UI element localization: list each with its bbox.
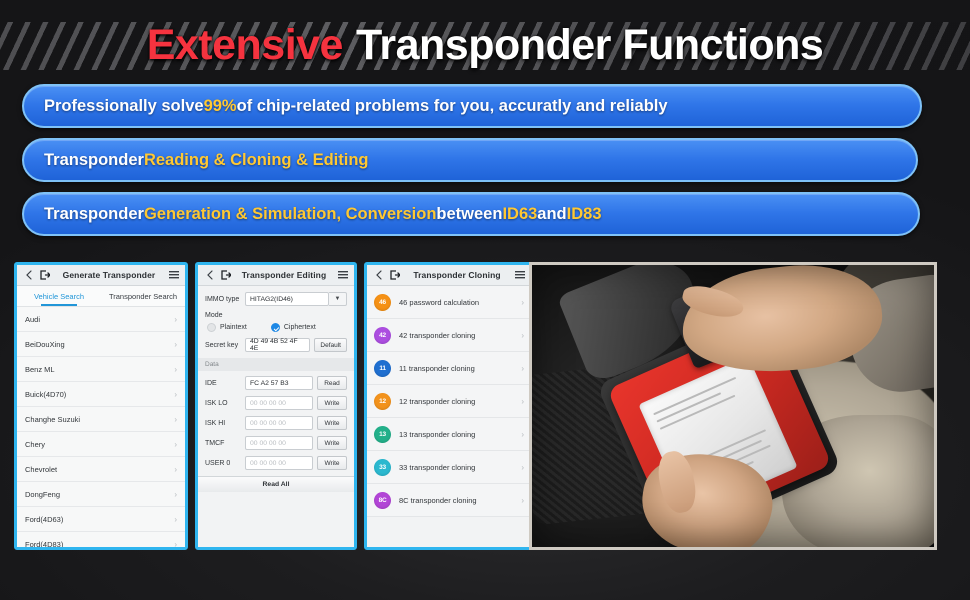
banner-2-segment-0: Transponder [44,151,144,170]
cloning-item-label: 13 transponder cloning [399,430,475,439]
list-item[interactable]: Buick(4D70)› [17,382,185,407]
panel-transponder-editing: Transponder Editing IMMO type HITAG2(ID4… [195,262,357,550]
chevron-right-icon: › [521,298,524,307]
panel-generate-transponder: Generate Transponder Vehicle Search Tran… [14,262,188,550]
exit-icon[interactable] [220,269,231,281]
page-title-highlight: Extensive [147,21,343,70]
banner-3-segment-0: Transponder [44,205,144,224]
chevron-right-icon: › [174,340,177,349]
chevron-right-icon: › [174,365,177,374]
list-item[interactable]: Audi› [17,307,185,332]
chevron-right-icon: › [174,540,177,548]
banner-1-segment-1: 99% [204,97,237,116]
data-row: TMCF 00 00 00 00 Write [205,436,347,450]
chip-badge-icon: 8C [374,492,391,509]
panel-generate-body: Vehicle Search Transponder Search Audi› … [17,286,185,547]
vehicle-search-tabs: Vehicle Search Transponder Search [17,286,185,307]
feature-banner-2: Transponder Reading & Cloning & Editing [22,138,918,182]
panel-generate-header: Generate Transponder [17,265,185,286]
write-button[interactable]: Write [317,456,347,470]
page-title-rest: Transponder Functions [356,21,823,70]
secret-key-label: Secret key [205,342,245,349]
radio-plaintext-label: Plaintext [220,324,247,331]
data-section-label: Data [198,358,354,371]
mode-radio-group: Plaintext Ciphertext [205,323,347,332]
vehicle-label: Benz ML [25,365,55,374]
cloning-function-list: 46 46 password calculation › 42 42 trans… [367,286,531,517]
isk-lo-input[interactable]: 00 00 00 00 [245,396,313,410]
menu-list-icon[interactable] [514,269,525,281]
chevron-right-icon: › [521,463,524,472]
vehicle-label: Ford(4D83) [25,540,63,548]
panel-editing-header: Transponder Editing [198,265,354,286]
chevron-right-icon: › [521,331,524,340]
list-item[interactable]: 46 46 password calculation › [367,286,531,319]
tab-transponder-search[interactable]: Transponder Search [101,286,185,306]
secret-key-row: Secret key 4D 49 4B 52 4F 4E Default [205,338,347,352]
banner-2-segment-1: Reading & Cloning & Editing [144,151,369,170]
editing-form: IMMO type HITAG2(ID46) ▼ Mode Plaintext … [198,286,354,492]
vehicle-label: Ford(4D63) [25,515,63,524]
cloning-item-label: 12 transponder cloning [399,397,475,406]
banner-3-segment-4: and [537,205,566,224]
list-item[interactable]: 42 42 transponder cloning › [367,319,531,352]
cloning-item-label: 42 transponder cloning [399,331,475,340]
chevron-right-icon: › [521,364,524,373]
panel-transponder-cloning: Transponder Cloning 46 46 password calcu… [364,262,534,550]
ide-input[interactable]: FC A2 57 B3 [245,376,313,390]
chip-badge-icon: 46 [374,294,391,311]
tab-vehicle-search[interactable]: Vehicle Search [17,286,101,306]
panel-editing-body: IMMO type HITAG2(ID46) ▼ Mode Plaintext … [198,286,354,547]
vehicle-list: Audi› BeiDouXing› Benz ML› Buick(4D70)› … [17,307,185,547]
data-row: USER 0 00 00 00 00 Write [205,456,347,470]
write-button[interactable]: Write [317,396,347,410]
list-item[interactable]: 11 11 transponder cloning › [367,352,531,385]
page-title: Extensive Transponder Functions [0,16,970,74]
banner-3-segment-1: Generation & Simulation, Conversion [144,205,436,224]
panel-cloning-title: Transponder Cloning [400,270,514,280]
field-label: USER 0 [205,460,245,467]
chevron-right-icon: › [174,465,177,474]
vehicle-label: Audi [25,315,40,324]
chevron-right-icon: › [174,390,177,399]
chevron-down-icon[interactable]: ▼ [329,292,347,306]
banner-1-segment-2: of chip-related problems for you, accura… [237,97,668,116]
menu-list-icon[interactable] [337,269,348,281]
feature-banner-list: Professionally solve 99% of chip-related… [22,84,922,246]
screenshot-panel-row: Generate Transponder Vehicle Search Tran… [14,262,534,550]
cloning-item-label: 11 transponder cloning [399,364,475,373]
field-label: ISK LO [205,400,245,407]
list-item[interactable]: Chery› [17,432,185,457]
back-chevron-icon[interactable] [23,269,34,281]
immo-type-label: IMMO type [205,296,245,303]
vehicle-label: DongFeng [25,490,60,499]
panel-cloning-body: 46 46 password calculation › 42 42 trans… [367,286,531,547]
data-row: IDE FC A2 57 B3 Read [205,376,347,390]
back-chevron-icon[interactable] [204,269,215,281]
list-item[interactable]: Ford(4D83)› [17,532,185,547]
chevron-right-icon: › [174,440,177,449]
radio-ciphertext-label: Ciphertext [284,324,316,331]
chevron-right-icon: › [521,430,524,439]
chip-badge-icon: 33 [374,459,391,476]
field-label: IDE [205,380,245,387]
list-item[interactable]: 13 13 transponder cloning › [367,418,531,451]
user0-input[interactable]: 00 00 00 00 [245,456,313,470]
page-header: Extensive Transponder Functions [0,0,970,80]
chip-badge-icon: 42 [374,327,391,344]
list-item[interactable]: BeiDouXing› [17,332,185,357]
list-item[interactable]: 12 12 transponder cloning › [367,385,531,418]
banner-3-segment-3: ID63 [502,205,537,224]
chevron-right-icon: › [174,490,177,499]
chevron-right-icon: › [174,315,177,324]
immo-type-value[interactable]: HITAG2(ID46) [245,292,329,306]
menu-list-icon[interactable] [168,269,179,281]
cloning-item-label: 33 transponder cloning [399,463,475,472]
photo-vignette [532,265,934,547]
vehicle-label: Chevrolet [25,465,57,474]
panel-cloning-header: Transponder Cloning [367,265,531,286]
radio-checked-icon [271,323,280,332]
write-button[interactable]: Write [317,436,347,450]
feature-banner-1: Professionally solve 99% of chip-related… [22,84,922,128]
radio-ciphertext[interactable]: Ciphertext [271,323,316,332]
radio-unchecked-icon [207,323,216,332]
chevron-right-icon: › [174,415,177,424]
vehicle-label: BeiDouXing [25,340,65,349]
data-row: ISK HI 00 00 00 00 Write [205,416,347,430]
chip-badge-icon: 12 [374,393,391,410]
list-item[interactable]: 33 33 transponder cloning › [367,451,531,484]
immo-type-row: IMMO type HITAG2(ID46) ▼ [205,292,347,306]
read-button[interactable]: Read [317,376,347,390]
list-item[interactable]: Benz ML› [17,357,185,382]
radio-plaintext[interactable]: Plaintext [207,323,247,332]
default-button[interactable]: Default [314,338,347,352]
exit-icon[interactable] [39,269,50,281]
banner-1-segment-0: Professionally solve [44,97,204,116]
list-item[interactable]: Chevrolet› [17,457,185,482]
feature-banner-3: Transponder Generation & Simulation, Con… [22,192,920,236]
tmcf-input[interactable]: 00 00 00 00 [245,436,313,450]
vehicle-label: Chery [25,440,45,449]
mode-label: Mode [205,312,347,319]
chevron-right-icon: › [521,397,524,406]
chevron-right-icon: › [521,496,524,505]
isk-hi-input[interactable]: 00 00 00 00 [245,416,313,430]
panel-editing-title: Transponder Editing [231,270,337,280]
chip-badge-icon: 13 [374,426,391,443]
banner-3-segment-5: ID83 [567,205,602,224]
chip-badge-icon: 11 [374,360,391,377]
data-row: ISK LO 00 00 00 00 Write [205,396,347,410]
list-item[interactable]: Ford(4D63)› [17,507,185,532]
vehicle-label: Buick(4D70) [25,390,66,399]
panel-generate-title: Generate Transponder [50,270,168,280]
list-item[interactable]: Changhe Suzuki› [17,407,185,432]
field-label: ISK HI [205,420,245,427]
photo-inner [532,265,934,547]
read-all-button[interactable]: Read All [198,476,354,492]
chevron-right-icon: › [174,515,177,524]
secret-key-input[interactable]: 4D 49 4B 52 4F 4E [245,338,310,352]
banner-3-segment-2: between [436,205,502,224]
list-item[interactable]: DongFeng› [17,482,185,507]
cloning-item-label: 8C transponder cloning [399,496,477,505]
back-chevron-icon[interactable] [373,269,384,281]
product-usage-photo [529,262,937,550]
write-button[interactable]: Write [317,416,347,430]
vehicle-label: Changhe Suzuki [25,415,80,424]
field-label: TMCF [205,440,245,447]
exit-icon[interactable] [389,269,400,281]
list-item[interactable]: 8C 8C transponder cloning › [367,484,531,517]
cloning-item-label: 46 password calculation [399,298,479,307]
